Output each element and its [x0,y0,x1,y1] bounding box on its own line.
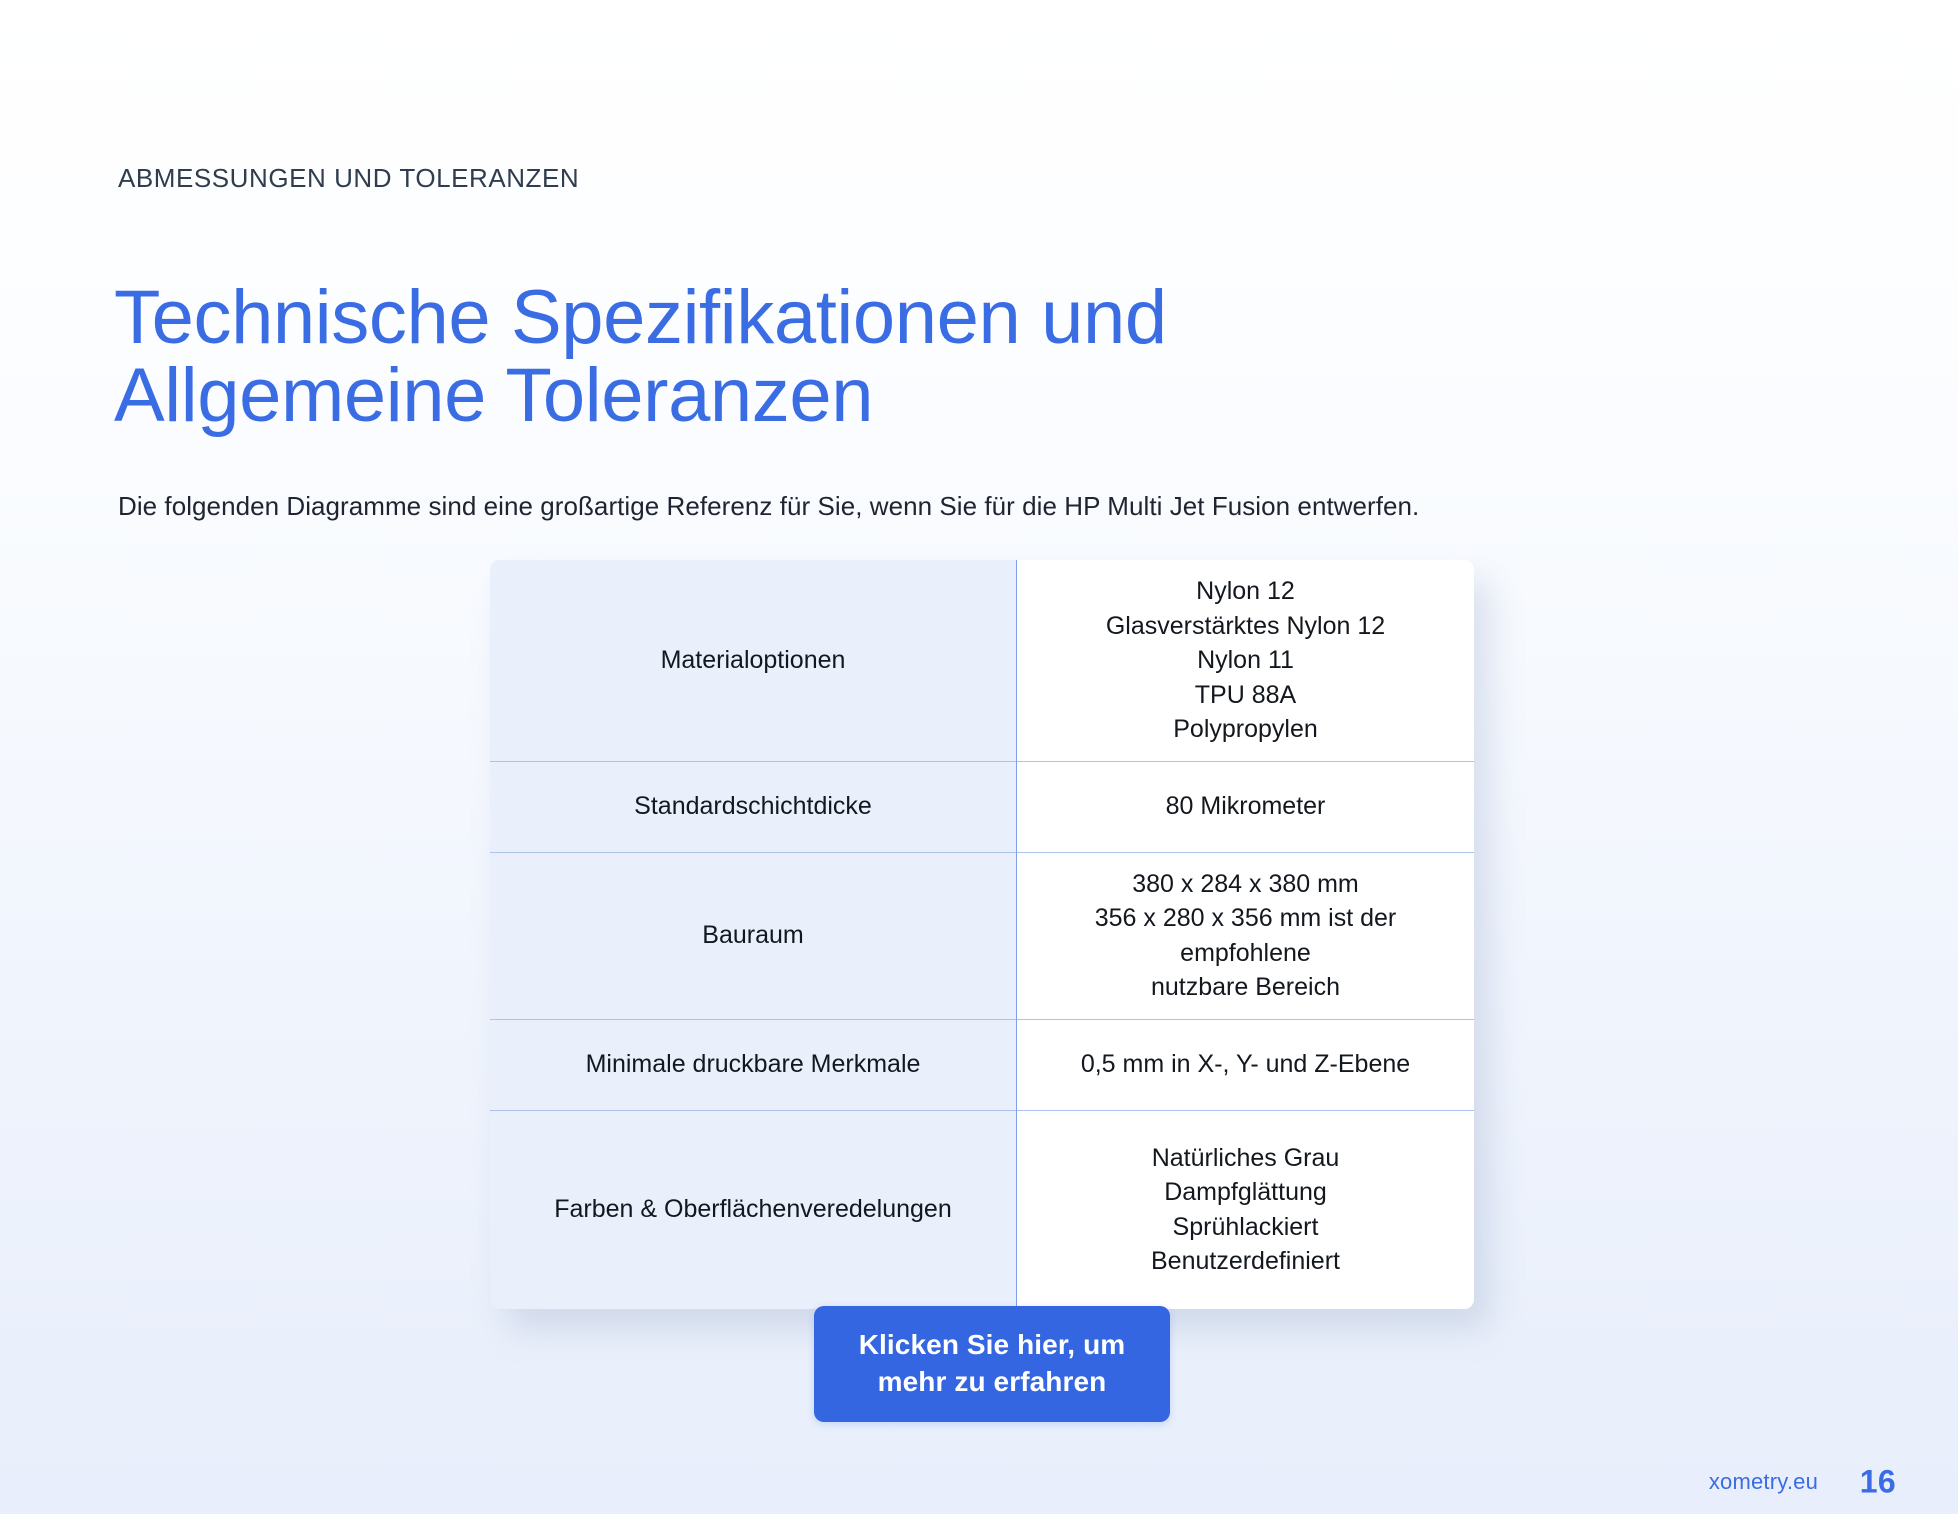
learn-more-button[interactable]: Klicken Sie hier, um mehr zu erfahren [814,1306,1170,1422]
page-subtitle: Die folgenden Diagramme sind eine großar… [118,491,1419,522]
table-row: Bauraum 380 x 284 x 380 mm 356 x 280 x 3… [490,852,1474,1019]
table-row-label: Materialoptionen [490,560,1017,761]
footer-brand-link[interactable]: xometry.eu [1709,1469,1818,1495]
value-line: nutzbare Bereich [1035,970,1456,1005]
table-row-label: Bauraum [490,852,1017,1019]
page-title: Technische Spezifikationen und Allgemein… [114,279,1414,436]
value-line: 80 Mikrometer [1035,789,1456,824]
value-line: 0,5 mm in X-, Y- und Z-Ebene [1035,1047,1456,1082]
value-line: 380 x 284 x 380 mm [1035,867,1456,902]
table-row-value: 0,5 mm in X-, Y- und Z-Ebene [1017,1019,1475,1110]
value-line: Polypropylen [1035,712,1456,747]
table-row-label: Minimale druckbare Merkmale [490,1019,1017,1110]
table-row-value: Nylon 12 Glasverstärktes Nylon 12 Nylon … [1017,560,1475,761]
table-row: Farben & Oberflächenveredelungen Natürli… [490,1110,1474,1309]
value-line: TPU 88A [1035,678,1456,713]
value-line: Nylon 11 [1035,643,1456,678]
specifications-table: Materialoptionen Nylon 12 Glasverstärkte… [490,560,1474,1309]
page-title-line-1: Technische Spezifikationen und [114,279,1414,357]
table-row-value: Natürliches Grau Dampfglättung Sprühlack… [1017,1110,1475,1309]
table-row-label: Standardschichtdicke [490,761,1017,852]
table-row-label: Farben & Oberflächenveredelungen [490,1110,1017,1309]
table-row-value: 380 x 284 x 380 mm 356 x 280 x 356 mm is… [1017,852,1475,1019]
value-line: Glasverstärktes Nylon 12 [1035,609,1456,644]
value-line: 356 x 280 x 356 mm ist der empfohlene [1035,901,1456,970]
page-number: 16 [1860,1464,1896,1501]
table-row: Minimale druckbare Merkmale 0,5 mm in X-… [490,1019,1474,1110]
table-row-value: 80 Mikrometer [1017,761,1475,852]
specifications-table-body: Materialoptionen Nylon 12 Glasverstärkte… [490,560,1474,1309]
value-line: Nylon 12 [1035,574,1456,609]
value-line: Natürliches Grau [1035,1141,1456,1176]
slide-canvas: ABMESSUNGEN UND TOLERANZEN Technische Sp… [0,0,1958,1514]
table-row: Materialoptionen Nylon 12 Glasverstärkte… [490,560,1474,761]
cta-line-1: Klicken Sie hier, um [814,1327,1170,1364]
value-line: Sprühlackiert [1035,1210,1456,1245]
table-row: Standardschichtdicke 80 Mikrometer [490,761,1474,852]
cta-line-2: mehr zu erfahren [814,1364,1170,1401]
page-title-line-2: Allgemeine Toleranzen [114,357,1414,435]
specifications-table-container: Materialoptionen Nylon 12 Glasverstärkte… [490,560,1474,1309]
value-line: Dampfglättung [1035,1175,1456,1210]
value-line: Benutzerdefiniert [1035,1244,1456,1279]
section-eyebrow: ABMESSUNGEN UND TOLERANZEN [118,163,579,194]
